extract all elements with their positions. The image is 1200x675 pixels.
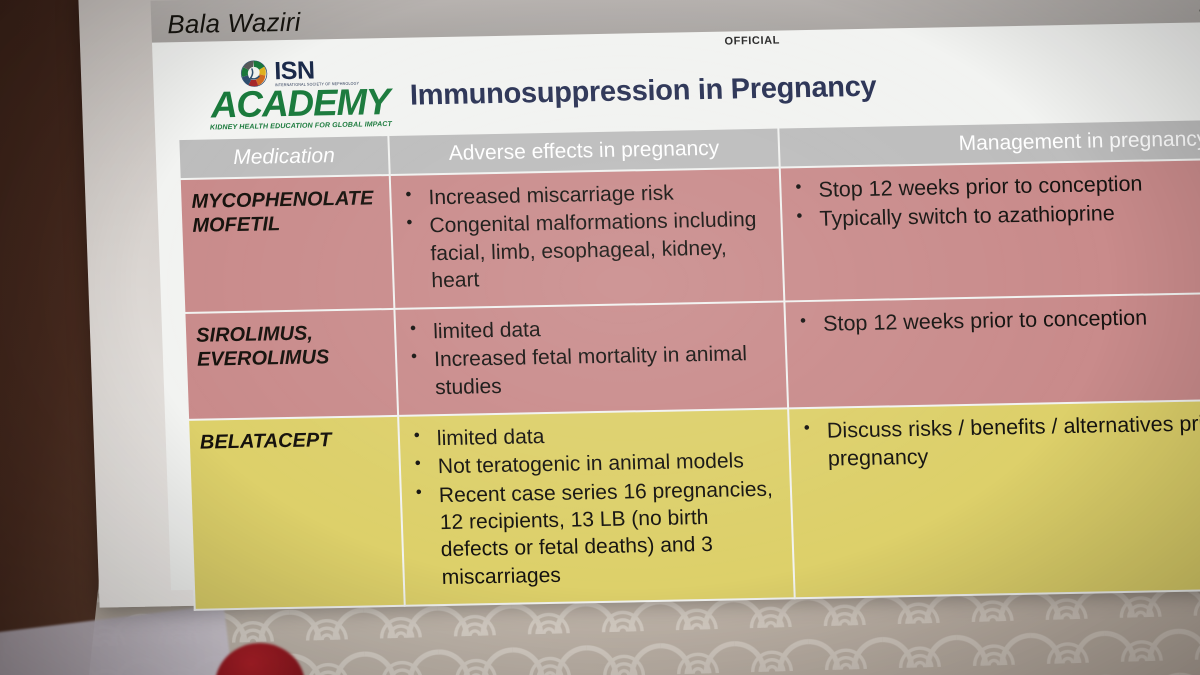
- cell-management: Stop 12 weeks prior to conceptionTypical…: [780, 156, 1200, 302]
- bullet-list: Stop 12 weeks prior to conceptionTypical…: [791, 166, 1200, 234]
- slide-canvas: OFFICIAL: [152, 20, 1200, 591]
- cell-management: Discuss risks / benefits / alternatives …: [788, 397, 1200, 598]
- isn-academy-logo: ISN INTERNATIONAL SOCIETY OF NEPHROLOGY …: [199, 56, 402, 132]
- bullet-item: Increased fetal mortality in animal stud…: [407, 340, 777, 402]
- column-header-medication: Medication: [178, 135, 389, 179]
- table-body: MYCOPHENOLATE MOFETILIncreased miscarria…: [180, 156, 1200, 610]
- slide-title: Immunosuppression in Pregnancy: [409, 71, 876, 113]
- bullet-list: Increased miscarriage riskCongenital mal…: [401, 178, 773, 295]
- bullet-item: Stop 12 weeks prior to conception: [796, 300, 1200, 339]
- bullet-list: limited dataIncreased fetal mortality in…: [406, 312, 777, 402]
- bullet-item: Recent case series 16 pregnancies, 12 re…: [411, 475, 783, 591]
- medication-name: MYCOPHENOLATE MOFETIL: [191, 185, 381, 238]
- cell-adverse-effects: Increased miscarriage riskCongenital mal…: [390, 168, 785, 310]
- bullet-item: Discuss risks / benefits / alternatives …: [799, 407, 1200, 474]
- cell-management: Stop 12 weeks prior to conception: [784, 290, 1200, 408]
- medication-name: SIROLIMUS, EVEROLIMUS: [196, 319, 386, 372]
- presenter-name: Bala Waziri: [167, 6, 301, 40]
- table-row: MYCOPHENOLATE MOFETILIncreased miscarria…: [180, 156, 1200, 313]
- cell-adverse-effects: limited dataIncreased fetal mortality in…: [394, 302, 788, 416]
- table-row: SIROLIMUS, EVEROLIMUSlimited dataIncreas…: [184, 290, 1200, 420]
- cell-medication: SIROLIMUS, EVEROLIMUS: [184, 309, 398, 420]
- cell-adverse-effects: limited dataNot teratogenic in animal mo…: [398, 408, 795, 605]
- table-row: BELATACEPTlimited dataNot teratogenic in…: [188, 397, 1200, 610]
- bullet-list: limited dataNot teratogenic in animal mo…: [409, 419, 783, 592]
- academy-wordmark: ACADEMY: [200, 84, 401, 123]
- bullet-item: Congenital malformations including facia…: [402, 206, 773, 295]
- immunosuppression-table: Medication Adverse effects in pregnancy …: [177, 115, 1200, 611]
- cell-medication: MYCOPHENOLATE MOFETIL: [180, 175, 395, 313]
- bullet-list: Discuss risks / benefits / alternatives …: [799, 407, 1200, 474]
- bullet-list: Stop 12 weeks prior to conception: [796, 300, 1200, 339]
- medication-name: BELATACEPT: [199, 426, 388, 455]
- projector-screen: Bala Waziri 11: OFFICIAL: [78, 0, 1200, 608]
- cell-medication: BELATACEPT: [188, 416, 405, 610]
- isn-wordmark: ISN: [274, 57, 359, 84]
